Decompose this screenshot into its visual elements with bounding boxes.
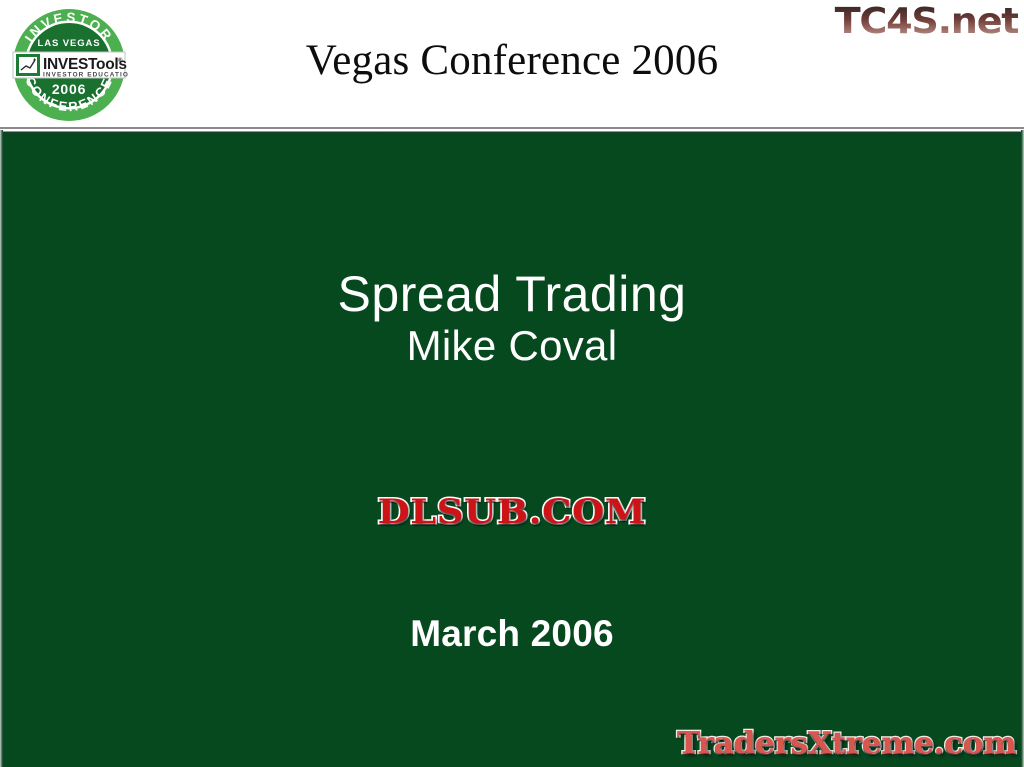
stage-left-bevel xyxy=(0,130,3,767)
header-divider xyxy=(0,127,1024,129)
slide-header: INVESTOR CONFERENCE LAS VEGAS INVESTools… xyxy=(0,0,1024,130)
dlsub-watermark-text: DLSUB.COM xyxy=(378,492,647,532)
tc4s-wordmark: TC4S.net xyxy=(834,2,1018,42)
page-title: Vegas Conference 2006 xyxy=(0,36,1024,85)
slide-main-title: Spread Trading xyxy=(0,265,1024,323)
dlsub-watermark: DLSUB.COM xyxy=(0,492,1024,531)
slide-body: Spread Trading Mike Coval DLSUB.COM Marc… xyxy=(0,130,1024,767)
slide-date: March 2006 xyxy=(0,613,1024,655)
stage-top-bevel xyxy=(0,130,1024,135)
slide-presenter-name: Mike Coval xyxy=(0,323,1024,369)
tradersxtreme-watermark: TradersXtreme.com xyxy=(677,726,1016,761)
presentation-slide: INVESTOR CONFERENCE LAS VEGAS INVESTools… xyxy=(0,0,1024,767)
title-block: Spread Trading Mike Coval xyxy=(0,265,1024,369)
